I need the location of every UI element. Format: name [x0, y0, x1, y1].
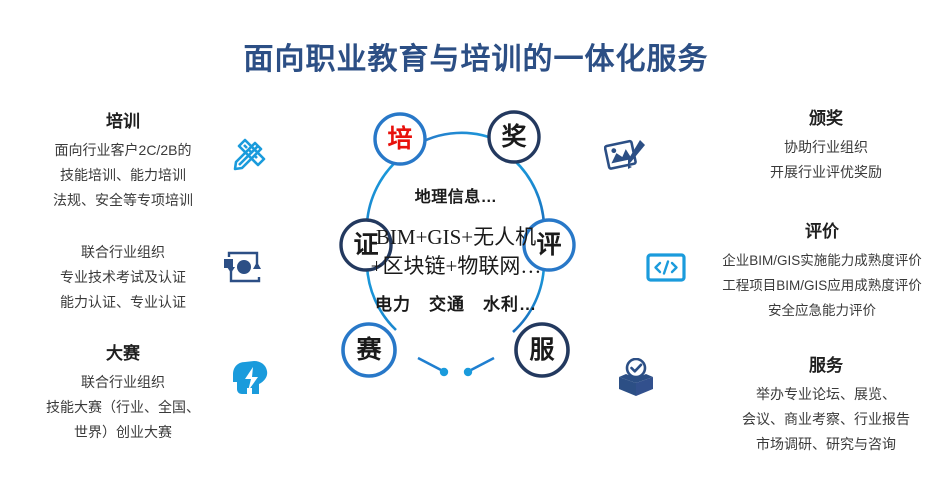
brain-idea-icon	[230, 358, 272, 405]
block-line: 工程项目BIM/GIS应用成熟度评价	[698, 273, 946, 298]
text-block-evaluation: 评价 企业BIM/GIS实施能力成熟度评价 工程项目BIM/GIS应用成熟度评价…	[698, 218, 946, 323]
block-line: 安全应急能力评价	[698, 298, 946, 323]
block-heading-contest: 大赛	[8, 340, 238, 368]
center-text-industries: 电力 交通 水利…	[296, 290, 616, 315]
pencil-ruler-icon	[228, 132, 270, 179]
page-title: 面向职业教育与培训的一体化服务	[0, 40, 952, 80]
block-line: 联合行业组织	[8, 370, 238, 395]
center-text-technologies: BIM+GIS+无人机 +区块链+物联网…	[296, 223, 616, 281]
text-block-contest: 大赛 联合行业组织 技能大赛（行业、全国、 世界）创业大赛	[8, 340, 238, 445]
block-line: 技能培训、能力培训	[8, 163, 238, 188]
block-line: 联合行业组织	[8, 240, 238, 265]
block-line: 企业BIM/GIS实施能力成熟度评价	[698, 248, 946, 273]
central-cycle-diagram: 培 奖 评 服 证 赛 地理信息… BIM+GIS+无人机 +区块链+物联网… …	[296, 105, 616, 405]
block-line: 面向行业客户2C/2B的	[8, 138, 238, 163]
text-block-certification: 联合行业组织 专业技术考试及认证 能力认证、专业认证	[8, 240, 238, 315]
node-circle-pei	[375, 114, 425, 164]
text-block-training: 培训 面向行业客户2C/2B的 技能培训、能力培训 法规、安全等专项培训	[8, 108, 238, 213]
certification-icon	[222, 248, 266, 291]
text-block-service: 服务 举办专业论坛、展览、 会议、商业考察、行业报告 市场调研、研究与咨询	[706, 352, 946, 457]
center-text-geoinfo: 地理信息…	[296, 183, 616, 207]
block-line: 开展行业评优奖励	[706, 160, 946, 185]
block-line: 举办专业论坛、展览、	[706, 382, 946, 407]
block-heading-evaluation: 评价	[698, 218, 946, 246]
endpoint-dot-left	[440, 368, 448, 376]
text-block-award: 颁奖 协助行业组织 开展行业评优奖励	[706, 105, 946, 185]
endpoint-dot-right	[464, 368, 472, 376]
block-line: 会议、商业考察、行业报告	[706, 407, 946, 432]
node-circle-fu	[516, 324, 568, 376]
center-text-technologies-line-a: BIM+GIS+无人机	[296, 223, 616, 252]
block-heading-service: 服务	[706, 352, 946, 380]
block-line: 法规、安全等专项培训	[8, 188, 238, 213]
block-heading-award: 颁奖	[706, 105, 946, 133]
stub-line-right	[471, 358, 494, 370]
block-line: 世界）创业大赛	[8, 420, 238, 445]
stub-line-left	[418, 358, 441, 370]
code-window-icon	[646, 252, 686, 289]
center-text-technologies-line-b: +区块链+物联网…	[296, 252, 616, 281]
block-heading-training: 培训	[8, 108, 238, 136]
block-line: 专业技术考试及认证	[8, 265, 238, 290]
block-line: 技能大赛（行业、全国、	[8, 395, 238, 420]
node-circle-jiang	[489, 112, 539, 162]
node-circle-sai	[343, 324, 395, 376]
package-check-icon	[614, 358, 658, 405]
block-line: 能力认证、专业认证	[8, 290, 238, 315]
block-line: 市场调研、研究与咨询	[706, 432, 946, 457]
block-line: 协助行业组织	[706, 135, 946, 160]
